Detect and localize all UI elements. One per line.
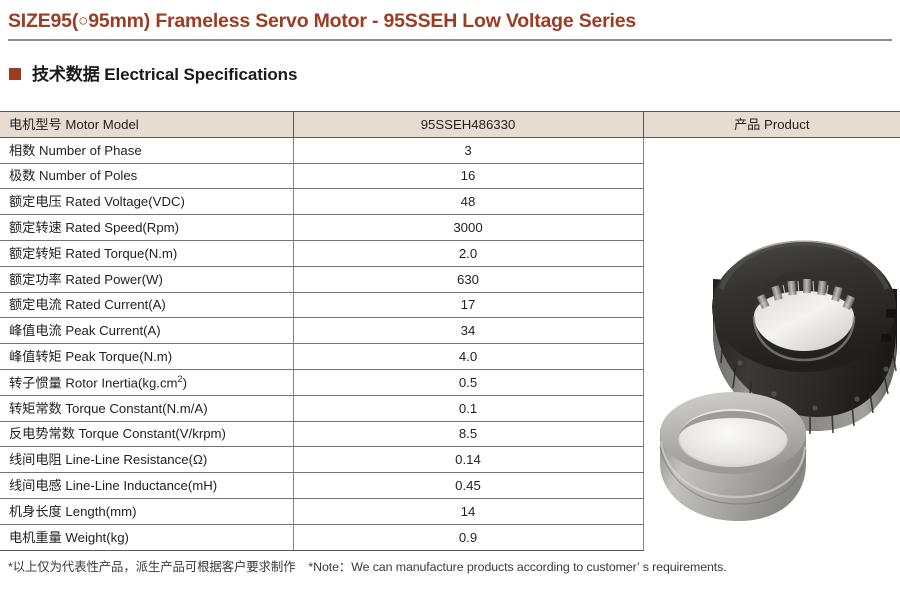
spec-label-text: 转子惯量 Rotor Inertia(kg.cm bbox=[9, 375, 178, 390]
spec-value: 0.5 bbox=[293, 369, 643, 395]
spec-label: 机身长度 Length(mm) bbox=[0, 498, 293, 524]
page-title-paren-close: ) bbox=[144, 10, 150, 32]
spec-label: 峰值电流 Peak Current(A) bbox=[0, 318, 293, 344]
spec-value: 3000 bbox=[293, 215, 643, 241]
spec-label: 线间电阻 Line-Line Resistance(Ω) bbox=[0, 447, 293, 473]
column-header-motor-model: 电机型号 Motor Model bbox=[0, 112, 293, 138]
spec-label: 额定电压 Rated Voltage(VDC) bbox=[0, 189, 293, 215]
spec-value: 630 bbox=[293, 266, 643, 292]
page-title-prefix: SIZE95 bbox=[8, 10, 72, 32]
spec-label: 额定功率 Rated Power(W) bbox=[0, 266, 293, 292]
column-header-model-number: 95SSEH486330 bbox=[293, 112, 643, 138]
spec-value: 0.14 bbox=[293, 447, 643, 473]
specifications-table-container: 电机型号 Motor Model 95SSEH486330 产品 Product… bbox=[0, 111, 900, 551]
product-image-cell bbox=[643, 137, 900, 550]
spec-label: 峰值转矩 Peak Torque(N.m) bbox=[0, 344, 293, 370]
page-title-diameter: 95mm bbox=[88, 10, 144, 32]
spec-label: 电机重量 Weight(kg) bbox=[0, 524, 293, 550]
section-heading-label: 技术数据 Electrical Specifications bbox=[32, 60, 297, 85]
spec-label-tail: ) bbox=[183, 375, 187, 390]
spec-value: 0.1 bbox=[293, 395, 643, 421]
spec-label-rotor-inertia: 转子惯量 Rotor Inertia(kg.cm2) bbox=[0, 369, 293, 395]
square-bullet-icon bbox=[9, 68, 21, 80]
spec-value: 2.0 bbox=[293, 240, 643, 266]
spec-value: 14 bbox=[293, 498, 643, 524]
specifications-table: 电机型号 Motor Model 95SSEH486330 产品 Product… bbox=[0, 111, 900, 551]
spec-label: 线间电感 Line-Line Inductance(mH) bbox=[0, 473, 293, 499]
footnote-en: *Note：We can manufacture products accord… bbox=[308, 560, 726, 574]
spec-label: 转矩常数 Torque Constant(N.m/A) bbox=[0, 395, 293, 421]
spec-label: 相数 Number of Phase bbox=[0, 137, 293, 163]
page-title: SIZE95(○95mm) Frameless Servo Motor - 95… bbox=[0, 0, 900, 32]
spec-label: 额定电流 Rated Current(A) bbox=[0, 292, 293, 318]
spec-value: 3 bbox=[293, 137, 643, 163]
spec-label: 额定转速 Rated Speed(Rpm) bbox=[0, 215, 293, 241]
spec-label: 反电势常数 Torque Constant(V/krpm) bbox=[0, 421, 293, 447]
spec-value: 4.0 bbox=[293, 344, 643, 370]
spec-value: 8.5 bbox=[293, 421, 643, 447]
spec-value: 16 bbox=[293, 163, 643, 189]
spec-value: 17 bbox=[293, 292, 643, 318]
table-header-row: 电机型号 Motor Model 95SSEH486330 产品 Product bbox=[0, 112, 900, 138]
table-row: 相数 Number of Phase 3 bbox=[0, 137, 900, 163]
diameter-circle-icon: ○ bbox=[78, 11, 88, 30]
footnote-cn: *以上仅为代表性产品，派生产品可根据客户要求制作 bbox=[8, 560, 295, 574]
footnote: *以上仅为代表性产品，派生产品可根据客户要求制作*Note：We can man… bbox=[8, 557, 727, 575]
column-header-product: 产品 Product bbox=[643, 112, 900, 138]
spec-label: 额定转矩 Rated Torque(N.m) bbox=[0, 240, 293, 266]
spec-label: 极数 Number of Poles bbox=[0, 163, 293, 189]
section-heading: 技术数据 Electrical Specifications bbox=[0, 41, 900, 85]
spec-value: 34 bbox=[293, 318, 643, 344]
spec-value: 48 bbox=[293, 189, 643, 215]
spec-value: 0.45 bbox=[293, 473, 643, 499]
page-title-rest: Frameless Servo Motor - 95SSEH Low Volta… bbox=[155, 10, 636, 32]
spec-value: 0.9 bbox=[293, 524, 643, 550]
